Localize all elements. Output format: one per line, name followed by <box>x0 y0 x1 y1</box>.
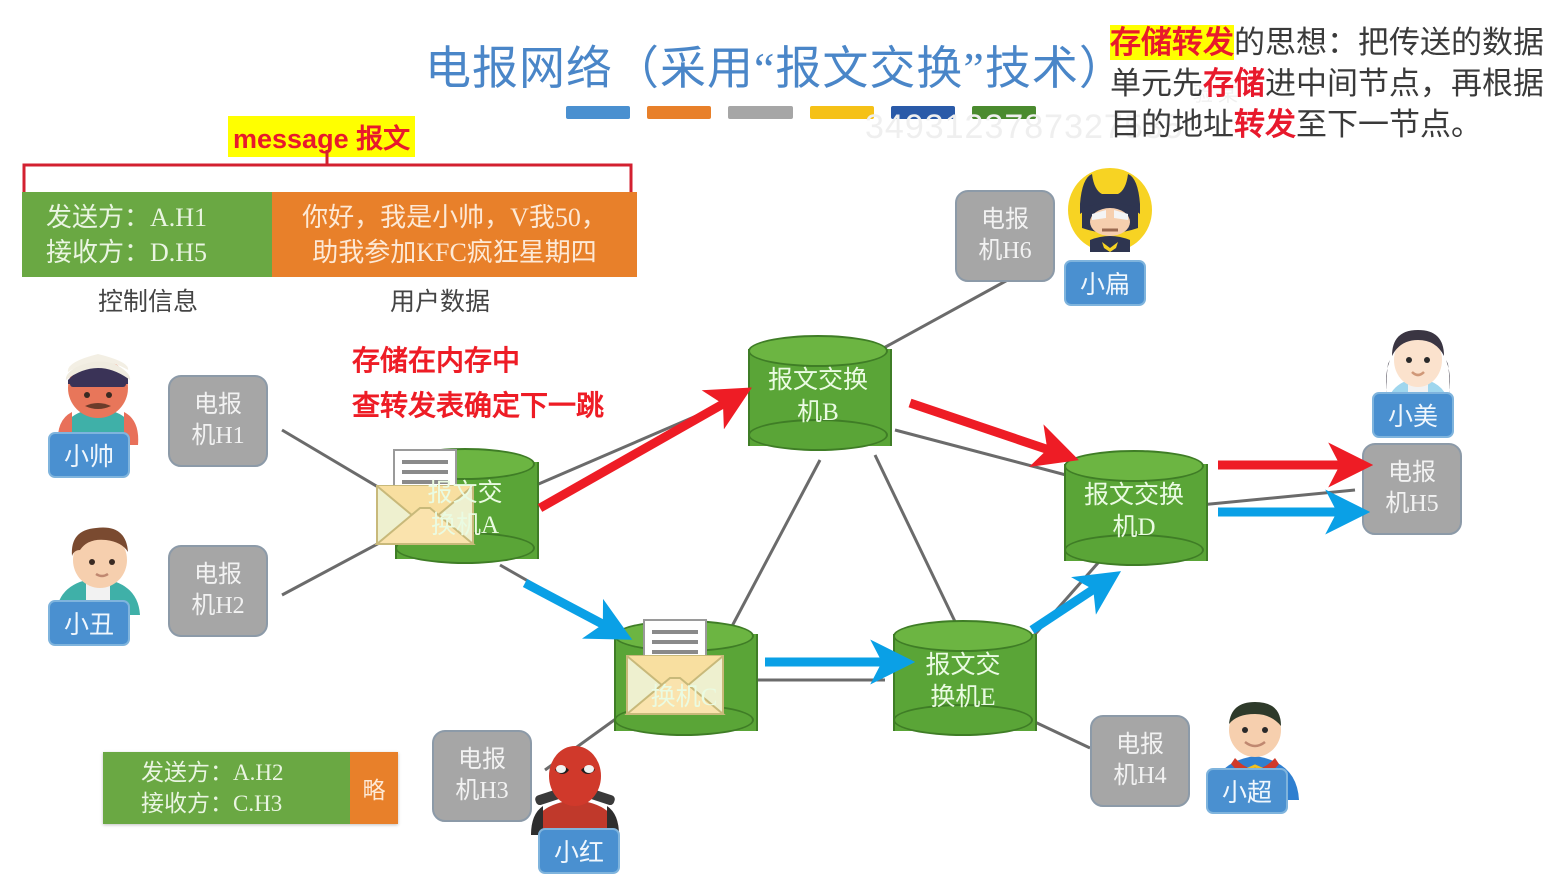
switch-label-c: 换机C <box>614 682 754 714</box>
terminal-h3-line1: 电报 <box>458 745 506 776</box>
cylinder-top <box>748 335 888 367</box>
name-tag-xiaohong: 小红 <box>538 828 620 874</box>
switch-b-line2: 机B <box>748 397 888 429</box>
packet-receiver: 接收方：D.H5 <box>46 235 272 270</box>
switch-e-line2: 换机E <box>893 682 1033 714</box>
color-bar-1 <box>566 106 630 119</box>
name-tag-xiaochao: 小超 <box>1206 768 1288 814</box>
color-bar-2 <box>647 106 711 119</box>
caption-user-data: 用户数据 <box>390 282 490 318</box>
page-title: 电报网络（采用“报文交换”技术） <box>425 32 1115 98</box>
note-line-3-red: 转发 <box>1234 107 1296 142</box>
terminal-h1-line1: 电报 <box>194 390 242 421</box>
annotation-line-1: 存储在内存中 <box>352 338 604 383</box>
message-label-en: message <box>233 124 349 154</box>
switch-e-line1: 报文交 <box>893 650 1033 682</box>
note-highlight: 存储转发 <box>1110 25 1234 60</box>
name-tag-xiaochou: 小丑 <box>48 600 130 646</box>
message-label-cn: 报文 <box>356 124 410 154</box>
name-tag-xiaoshuai-label: 小帅 <box>48 432 130 478</box>
switch-a-line2: 换机A <box>395 510 535 542</box>
terminal-h4-line2: 机H4 <box>1113 761 1166 792</box>
avatar-xiaohong <box>531 746 619 835</box>
packet-data-line-2: 助我参加KFC疯狂星期四 <box>312 235 597 270</box>
cylinder-top <box>1064 450 1204 482</box>
arrow-a-to-c <box>525 583 610 628</box>
note-line-2-a: 单元先 <box>1110 66 1203 101</box>
memory-annotation: 存储在内存中 查转发表确定下一跳 <box>352 338 604 428</box>
name-tag-xiaobian: 小扁 <box>1064 260 1146 306</box>
packet2-control-field: 发送方：A.H2 接收方：C.H3 <box>103 752 350 824</box>
terminal-h1[interactable]: 电报 机H1 <box>168 375 268 467</box>
terminal-h1-line2: 机H1 <box>191 421 244 452</box>
switch-a-line1: 报文交 <box>395 478 535 510</box>
packet2-receiver: 接收方：C.H3 <box>141 788 350 819</box>
packet-sender: 发送方：A.H1 <box>46 200 272 235</box>
switch-node-d[interactable]: 报文交换 机D <box>1064 450 1204 575</box>
terminal-h2[interactable]: 电报 机H2 <box>168 545 268 637</box>
note-line-1-rest: 的思想：把传送的数据 <box>1234 25 1544 60</box>
switch-node-b[interactable]: 报文交换 机B <box>748 335 888 460</box>
terminal-h6[interactable]: 电报 机H6 <box>955 190 1055 282</box>
terminal-h6-line2: 机H6 <box>978 236 1031 267</box>
switch-d-line2: 机D <box>1064 512 1204 544</box>
link-h2-a <box>282 532 400 595</box>
terminal-h3-line2: 机H3 <box>455 776 508 807</box>
arrow-b-to-d <box>910 403 1055 452</box>
note-line-2-b: 进中间节点，再根据 <box>1265 66 1544 101</box>
link-h1-a <box>282 430 400 500</box>
terminal-h6-line1: 电报 <box>981 205 1029 236</box>
annotation-line-2: 查转发表确定下一跳 <box>352 383 604 428</box>
note-line-1: 存储转发的思想：把传送的数据 <box>1110 22 1565 63</box>
switch-node-a[interactable]: 报文交 换机A <box>395 448 535 573</box>
avatar-xiaobian <box>1068 168 1152 252</box>
terminal-h4[interactable]: 电报 机H4 <box>1090 715 1190 807</box>
arrow-e-to-d <box>1032 585 1100 630</box>
link-b-e <box>875 455 960 632</box>
switch-b-line1: 报文交换 <box>748 365 888 397</box>
note-line-2-red: 存储 <box>1203 66 1265 101</box>
packet-data-line-1: 你好，我是小帅，V我50， <box>302 200 607 235</box>
packet-user-data-field: 你好，我是小帅，V我50， 助我参加KFC疯狂星期四 <box>272 192 637 277</box>
switch-label-e: 报文交 换机E <box>893 650 1033 714</box>
note-line-3-b: 至下一节点。 <box>1296 107 1482 142</box>
switch-node-c[interactable]: 换机C <box>614 620 754 745</box>
terminal-h5-line1: 电报 <box>1388 458 1436 489</box>
store-forward-note: 存储转发的思想：把传送的数据 单元先存储进中间节点，再根据 目的地址转发至下一节… <box>1110 22 1565 145</box>
switch-label-b: 报文交换 机B <box>748 365 888 429</box>
slide-canvas: 电报网络（采用“报文交换”技术） 3493123787327535 验 某 存储… <box>0 0 1565 871</box>
caption-control-info: 控制信息 <box>98 282 198 318</box>
message-packet-diagram: 发送方：A.H1 接收方：D.H5 你好，我是小帅，V我50， 助我参加KFC疯… <box>22 192 637 277</box>
packet2-sender: 发送方：A.H2 <box>141 757 350 788</box>
packet-control-field: 发送方：A.H1 接收方：D.H5 <box>22 192 272 277</box>
switch-d-line1: 报文交换 <box>1064 480 1204 512</box>
cylinder-top <box>893 620 1033 652</box>
note-line-3-a: 目的地址 <box>1110 107 1234 142</box>
message-packet-2: 发送方：A.H2 接收方：C.H3 略 <box>103 752 398 824</box>
color-bar-3 <box>728 106 792 119</box>
switch-node-e[interactable]: 报文交 换机E <box>893 620 1033 745</box>
cylinder-top <box>395 448 535 480</box>
terminal-h4-line1: 电报 <box>1116 730 1164 761</box>
switch-label-a: 报文交 换机A <box>395 478 535 542</box>
terminal-h3[interactable]: 电报 机H3 <box>432 730 532 822</box>
link-b-c <box>730 460 820 630</box>
note-line-2: 单元先存储进中间节点，再根据 <box>1110 63 1565 104</box>
terminal-h2-line2: 机H2 <box>191 591 244 622</box>
switch-label-d: 报文交换 机D <box>1064 480 1204 544</box>
switch-c-line2: 换机C <box>614 682 754 714</box>
link-b-d <box>895 430 1085 480</box>
message-label: message 报文 <box>228 116 415 157</box>
terminal-h5[interactable]: 电报 机H5 <box>1362 443 1462 535</box>
packet2-omitted-field: 略 <box>350 752 398 824</box>
name-tag-xiaomei: 小美 <box>1372 392 1454 438</box>
link-d-h5 <box>1200 490 1355 505</box>
terminal-h2-line1: 电报 <box>194 560 242 591</box>
cylinder-top <box>614 620 754 652</box>
note-line-3: 目的地址转发至下一节点。 <box>1110 104 1565 145</box>
terminal-h5-line2: 机H5 <box>1385 489 1438 520</box>
